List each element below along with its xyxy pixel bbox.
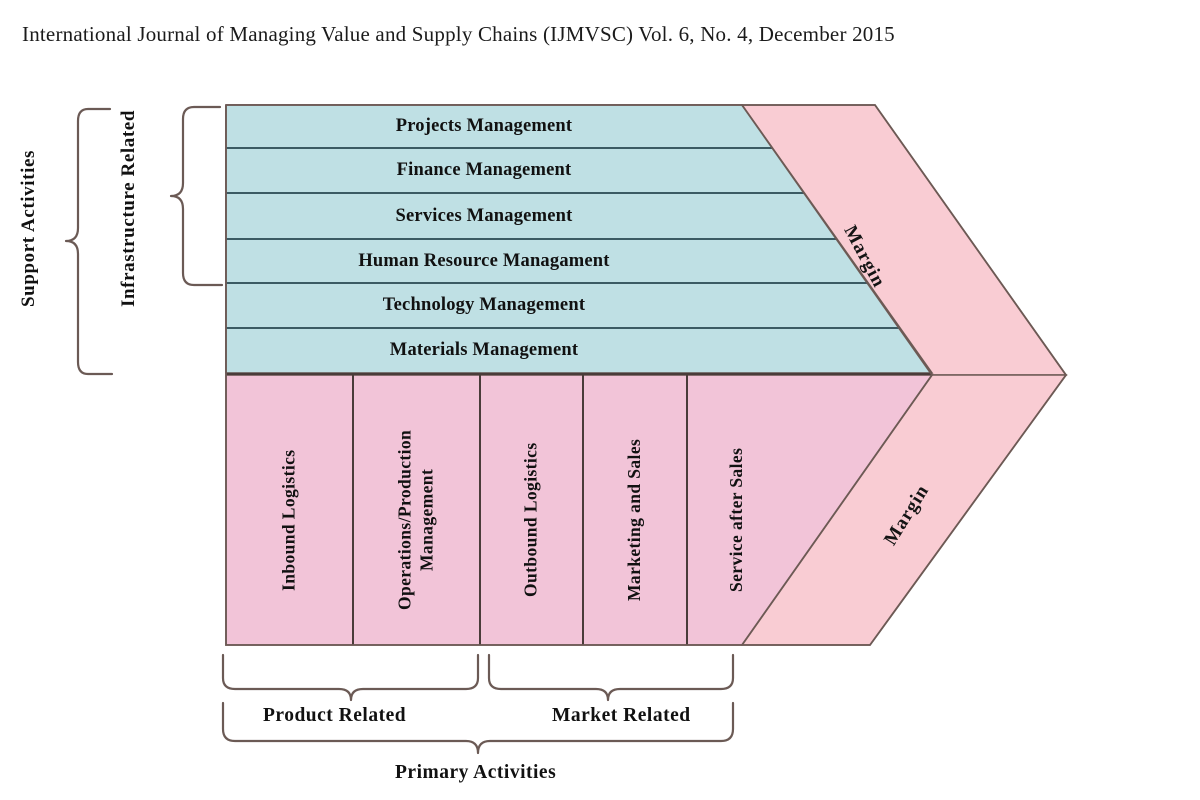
diagram-braces [0, 0, 1200, 800]
value-chain-diagram: Projects Management Finance Management S… [0, 0, 1200, 800]
brace-product-related [223, 655, 478, 700]
brace-support-activities [66, 109, 112, 374]
brace-infrastructure-related [171, 107, 222, 285]
brace-primary-activities [223, 703, 733, 753]
brace-market-related [489, 655, 733, 700]
